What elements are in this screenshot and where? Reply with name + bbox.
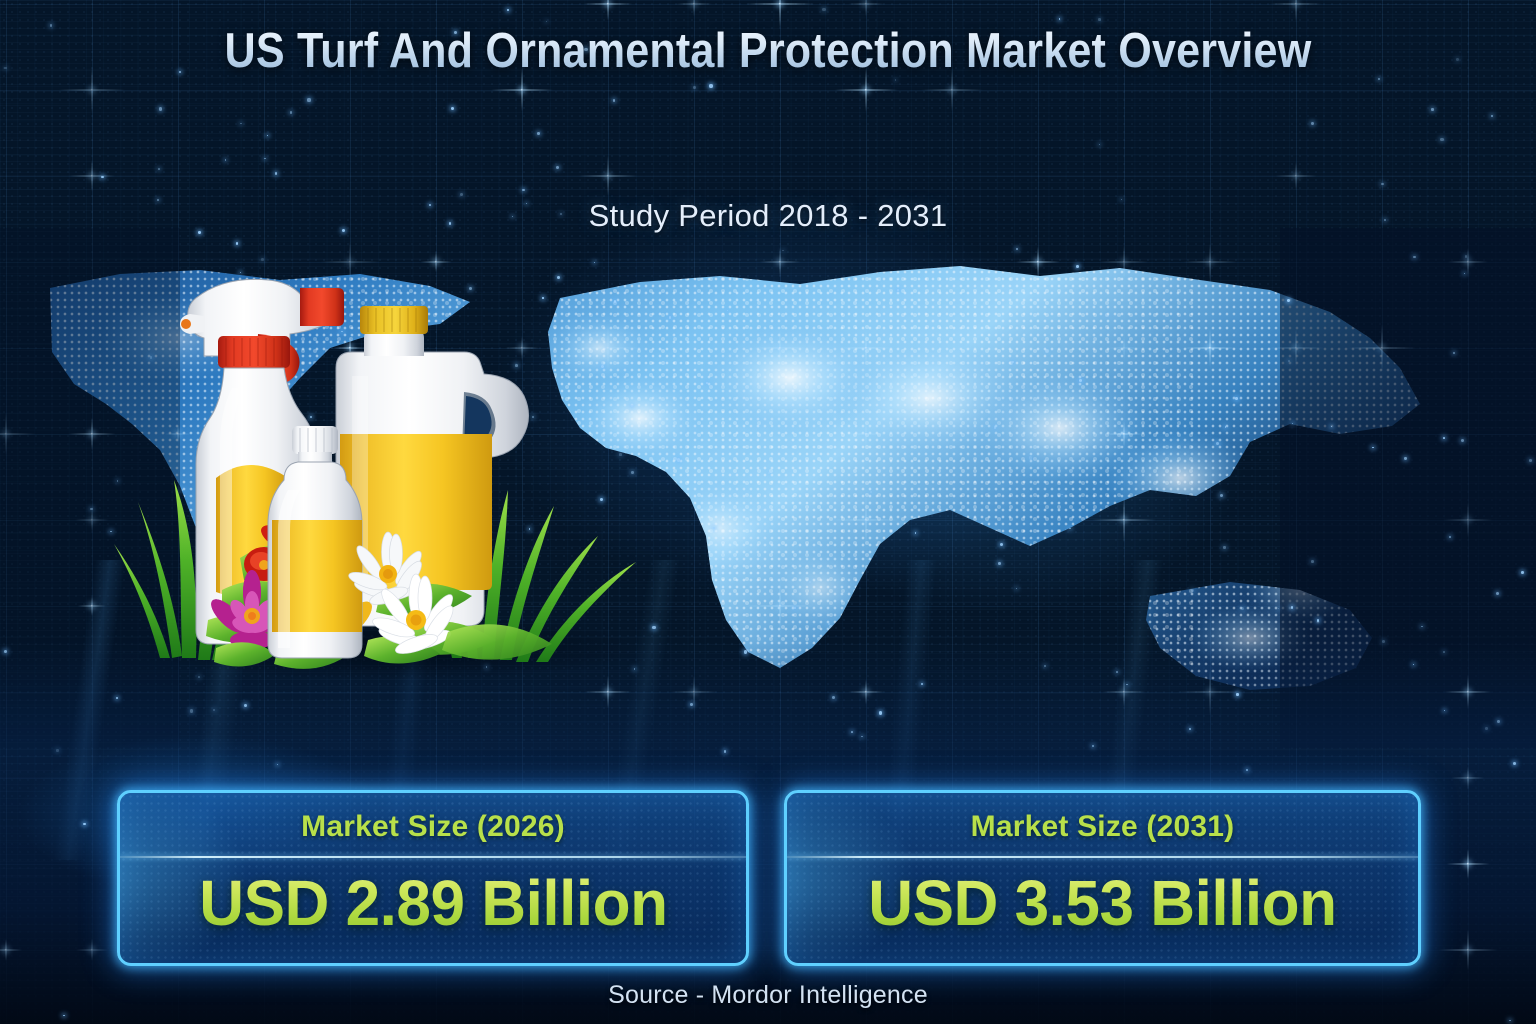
sparkle-dot [190, 709, 193, 712]
sparkle-dot [921, 683, 923, 685]
sparkle-star [1447, 843, 1490, 886]
sparkle-dot [1246, 769, 1248, 771]
sparkle-dot [1216, 442, 1219, 445]
sparkle-dot [83, 823, 85, 825]
sparkle-dot [782, 250, 783, 251]
sparkle-dot [706, 382, 708, 384]
sparkle-dot [1382, 640, 1385, 643]
sparkle-star [579, 147, 638, 206]
sparkle-dot [1521, 571, 1524, 574]
sparkle-dot [90, 508, 93, 511]
sparkle-dot [277, 764, 278, 765]
sparkle-dot [861, 736, 863, 738]
sparkle-star [754, 322, 806, 374]
sparkle-dot [1331, 426, 1332, 427]
sparkle-dot [1225, 426, 1227, 428]
sparkle-dot [522, 189, 525, 192]
sparkle-dot [1189, 728, 1192, 731]
sparkle-dot [556, 166, 559, 169]
sparkle-star [846, 414, 885, 453]
sparkle-dot [1000, 543, 1003, 546]
sparkle-dot [1513, 762, 1516, 765]
sparkle-dot [1016, 248, 1018, 250]
sparkle-dot [1497, 720, 1500, 723]
sparkle-dot [1431, 108, 1433, 110]
sparkle-star [69, 153, 115, 199]
sparkle-dot [451, 107, 454, 110]
sparkle-dot [915, 532, 916, 533]
stat-label-2026: Market Size (2026) [301, 810, 565, 844]
sparkle-dot [1378, 78, 1380, 80]
sparkle-dot [307, 98, 310, 101]
sparkle-dot [1449, 536, 1451, 538]
sparkle-dot [693, 86, 696, 89]
sparkle-star [848, 674, 884, 710]
sparkle-dot [179, 71, 182, 74]
sparkle-dot [1016, 588, 1017, 589]
sparkle-star [0, 404, 36, 464]
sparkle-dot [4, 67, 6, 69]
sparkle-dot [897, 289, 899, 291]
sparkle-dot [1464, 273, 1465, 274]
sparkle-dot [1235, 397, 1238, 400]
sparkle-star [760, 242, 801, 283]
sparkle-star [1099, 237, 1148, 286]
sparkle-star [1016, 240, 1060, 284]
sparkle-star [75, 503, 109, 537]
sparkle-star [0, 934, 22, 966]
sparkle-dot [1311, 122, 1314, 125]
sparkle-star [1348, 314, 1416, 382]
sparkle-star [1448, 242, 1488, 282]
sparkle-dot [709, 84, 712, 87]
sparkle-dot [822, 8, 825, 11]
sparkle-dot [690, 703, 693, 706]
sparkle-dot [460, 193, 463, 196]
sparkle-dot [677, 458, 680, 461]
sparkle-dot [768, 472, 770, 474]
sparkle-dot [1453, 352, 1455, 354]
sparkle-dot [713, 527, 715, 529]
stat-divider [787, 856, 1418, 858]
sparkle-dot [994, 426, 996, 428]
stat-card-2026: Market Size (2026) USD 2.89 Billion [117, 790, 749, 966]
sparkle-dot [1098, 18, 1101, 21]
stat-label-2031: Market Size (2031) [971, 810, 1235, 844]
sparkle-dot [537, 132, 540, 135]
infographic-canvas: US Turf And Ornamental Protection Market… [0, 0, 1536, 1024]
sparkle-dot [1496, 592, 1499, 595]
sparkle-dot [1012, 361, 1014, 363]
sparkle-star [1275, 155, 1317, 197]
sparkle-star [1177, 659, 1242, 724]
sparkle-dot [809, 581, 810, 582]
sparkle-dot [1106, 315, 1107, 316]
sparkle-dot [546, 21, 547, 22]
sparkle-star [1444, 668, 1491, 715]
sparkle-dot [1465, 255, 1468, 258]
sparkle-dot [1529, 459, 1532, 462]
sparkle-dot [613, 99, 616, 102]
sparkle-dot [1126, 684, 1127, 685]
map-glow [660, 250, 1340, 670]
sparkle-dot [244, 704, 247, 707]
sparkle-dot [507, 9, 508, 10]
sparkle-dot [1456, 58, 1459, 61]
sparkle-dot [1099, 144, 1101, 146]
sparkle-dot [1220, 494, 1223, 497]
sparkle-dot [652, 626, 655, 629]
sparkle-dot [1059, 18, 1061, 20]
sparkle-dot [1278, 608, 1279, 609]
page-title: US Turf And Ornamental Protection Market… [187, 24, 1349, 80]
sparkle-star [841, 323, 890, 372]
sparkle-dot [1291, 606, 1293, 608]
sparkle-dot [828, 623, 829, 624]
sparkle-dot [56, 749, 58, 751]
sparkle-dot [1440, 138, 1443, 141]
sparkle-dot [63, 1015, 65, 1017]
sparkle-star [848, 0, 884, 22]
sparkle-dot [213, 709, 215, 711]
sparkle-dot [669, 316, 672, 319]
sparkle-dot [1044, 665, 1046, 667]
sparkle-dot [1092, 745, 1094, 747]
sparkle-star [746, 572, 814, 640]
sparkle-dot [1116, 671, 1118, 673]
sparkle-dot [1461, 439, 1464, 442]
sparkle-dot [1191, 589, 1194, 592]
sparkle-dot [1292, 423, 1294, 425]
sparkle-star [1183, 235, 1237, 289]
sparkle-dot [851, 731, 853, 733]
sparkle-dot [50, 24, 52, 26]
sparkle-dot [1069, 528, 1070, 529]
sparkle-star [1451, 761, 1484, 794]
sparkle-dot [879, 711, 882, 714]
sparkle-dot [1443, 651, 1445, 653]
sparkle-dot [1443, 437, 1445, 439]
sparkle-dot [1061, 494, 1063, 496]
sparkle-star [1108, 332, 1140, 364]
sparkle-star [1439, 921, 1498, 980]
sparkle-dot [1444, 710, 1445, 711]
sparkle-dot [727, 310, 728, 311]
sparkle-star [676, 0, 712, 22]
sparkle-dot [275, 172, 277, 174]
sparkle-dot [1485, 727, 1488, 730]
sparkle-dot [1491, 115, 1493, 117]
stat-card-2031: Market Size (2031) USD 3.53 Billion [784, 790, 1421, 966]
sparkle-dot [1287, 299, 1290, 302]
sparkle-dot [116, 697, 118, 699]
sparkle-star [670, 668, 717, 715]
sparkle-star [1092, 488, 1156, 552]
stat-divider [120, 856, 746, 858]
sparkle-dot [1241, 607, 1244, 610]
sparkle-dot [1288, 360, 1290, 362]
sparkle-dot [724, 750, 727, 753]
sparkle-star [1103, 671, 1146, 714]
sparkle-dot [1421, 626, 1423, 628]
sparkle-dot [794, 607, 796, 609]
sparkle-star [78, 592, 106, 620]
sparkle-dot [1223, 546, 1225, 548]
sparkle-dot [1404, 457, 1406, 459]
sparkle-dot [1311, 560, 1314, 563]
stat-value-2026: USD 2.89 Billion [199, 866, 667, 940]
study-period-subtitle: Study Period 2018 - 2031 [0, 198, 1536, 234]
sparkle-dot [1381, 183, 1383, 185]
sparkle-dot [1079, 379, 1082, 382]
sparkle-dot [101, 176, 104, 179]
sparkle-star [1184, 322, 1236, 374]
sparkle-dot [1509, 1020, 1510, 1021]
sparkle-star [1105, 415, 1142, 452]
sparkle-dot [870, 491, 872, 493]
sparkle-dot [1413, 256, 1416, 259]
sparkle-dot [998, 562, 1001, 565]
sparkle-dot [267, 135, 268, 136]
sparkle-dot [744, 650, 747, 653]
sparkle-star [1269, 321, 1324, 376]
sparkle-star [76, 934, 108, 966]
sparkle-star [1443, 495, 1493, 545]
sparkle-dot [290, 111, 293, 114]
sparkle-dot [4, 650, 7, 653]
sparkle-dot [1029, 456, 1032, 459]
product-illustration [112, 228, 652, 678]
sparkle-dot [1413, 664, 1414, 665]
sparkle-dot [1372, 447, 1374, 449]
sparkle-dot [1046, 350, 1049, 353]
sparkle-dot [1236, 693, 1238, 695]
source-credit: Source - Mordor Intelligence [0, 981, 1536, 1010]
sparkle-dot [264, 158, 266, 160]
sparkle-dot [158, 168, 160, 170]
sparkle-dot [832, 696, 835, 699]
sparkle-star [831, 485, 901, 555]
sparkle-star [58, 56, 125, 123]
sparkle-dot [240, 123, 241, 124]
sparkle-dot [1317, 619, 1319, 621]
stat-value-2031: USD 3.53 Billion [868, 866, 1336, 940]
sparkle-dot [159, 107, 162, 110]
sparkle-dot [1076, 265, 1079, 268]
sparkle-dot [225, 159, 227, 161]
sparkle-star [69, 411, 116, 458]
